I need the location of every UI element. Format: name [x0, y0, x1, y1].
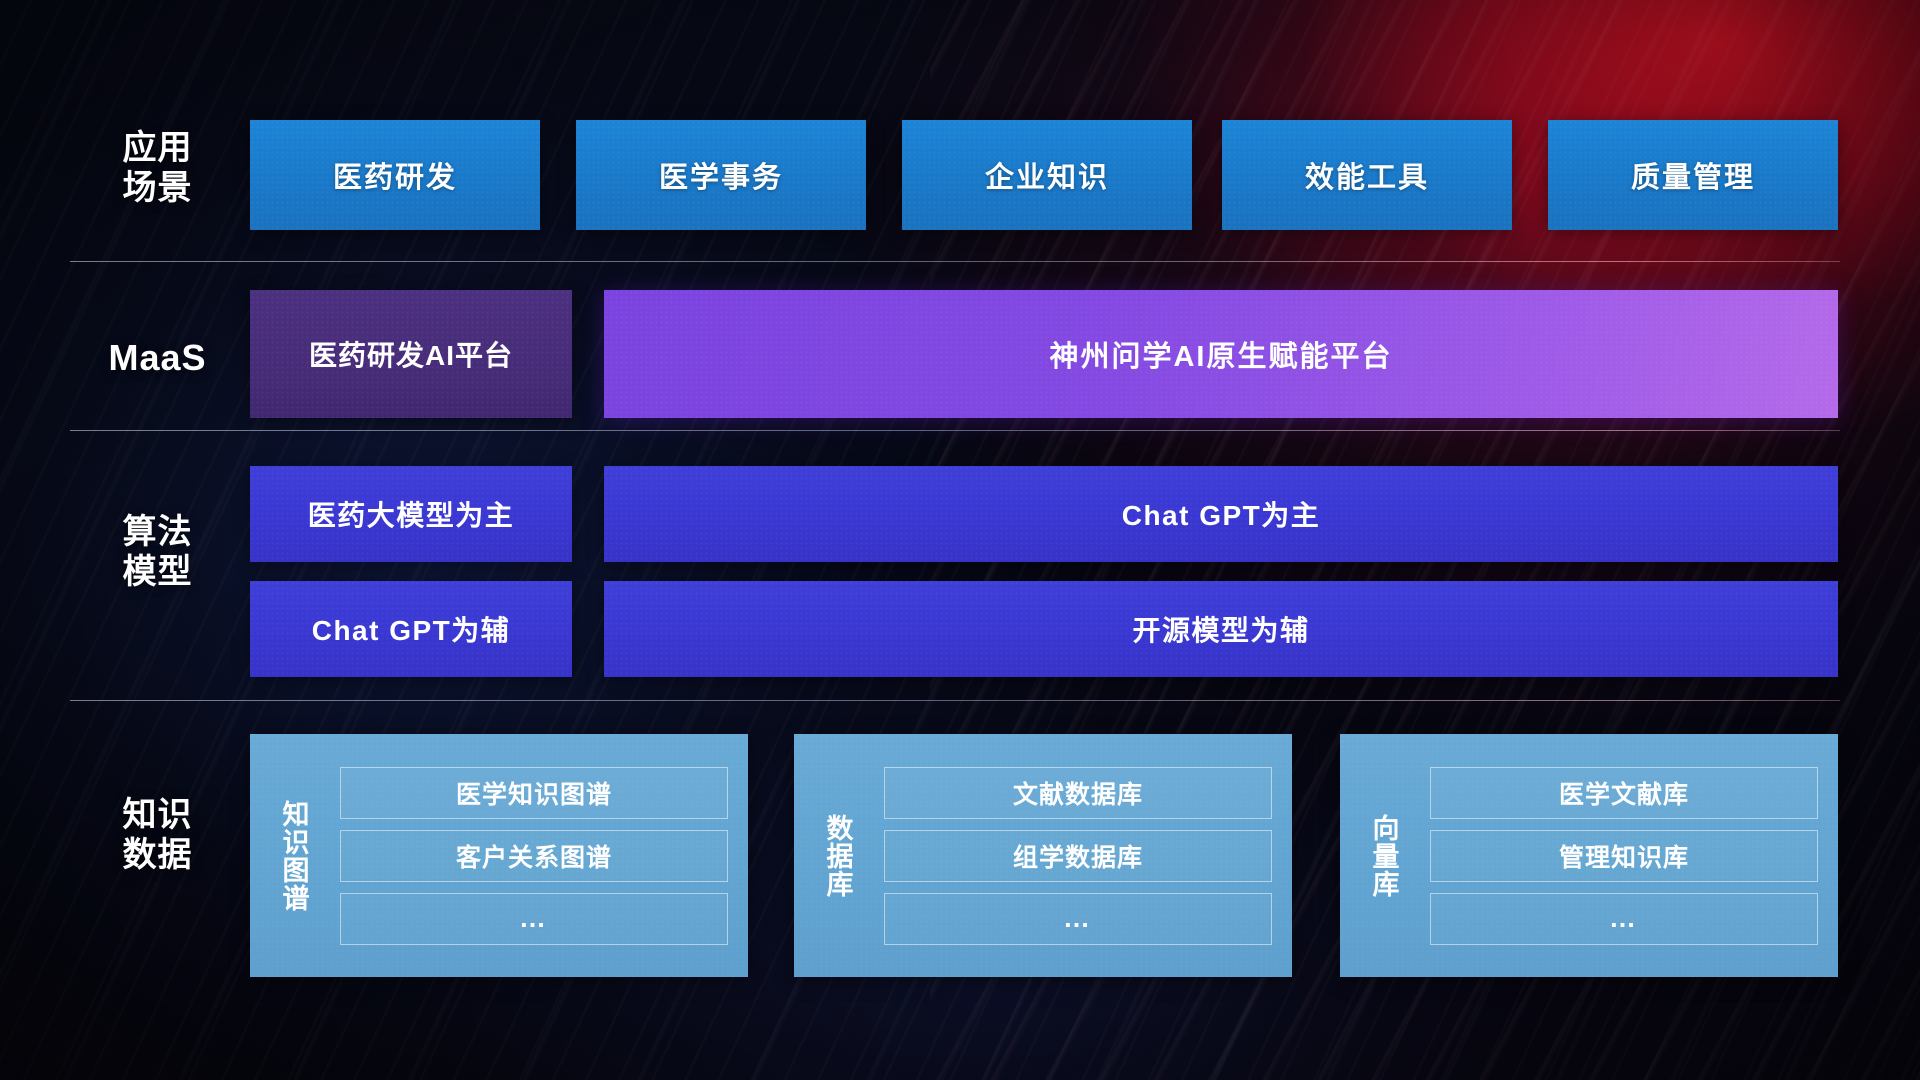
app-box-1[interactable]: 医药研发: [250, 120, 540, 230]
diagram-canvas: 应用 场景 医药研发 医学事务 企业知识 效能工具 质量管理 MaaS 医药研发…: [0, 0, 1920, 1080]
alg-box-row1-right[interactable]: Chat GPT为主: [604, 466, 1838, 562]
tier-label-application-scenarios: 应用 场景: [70, 128, 245, 208]
app-box-2[interactable]: 医学事务: [576, 120, 866, 230]
knowledge-panel-vector-label: 向量库: [1340, 734, 1426, 977]
alg-box-row1-left[interactable]: 医药大模型为主: [250, 466, 572, 562]
knowledge-panel-vector[interactable]: 向量库 医学文献库 管理知识库 …: [1340, 734, 1838, 977]
divider-2: [70, 430, 1840, 431]
tier-label-maas: MaaS: [70, 337, 245, 379]
maas-box-medical-ai-platform[interactable]: 医药研发AI平台: [250, 290, 572, 418]
knowledge-panel-graph-items: 医学知识图谱 客户关系图谱 …: [336, 767, 748, 945]
knowledge-item-graph-3[interactable]: …: [340, 893, 728, 945]
knowledge-item-database-2[interactable]: 组学数据库: [884, 830, 1272, 882]
knowledge-item-database-3[interactable]: …: [884, 893, 1272, 945]
tier-label-line-1: 知识: [70, 795, 245, 835]
knowledge-panel-vector-items: 医学文献库 管理知识库 …: [1426, 767, 1838, 945]
divider-1: [70, 261, 1840, 262]
app-box-3[interactable]: 企业知识: [902, 120, 1192, 230]
tier-label-line-2: 场景: [70, 168, 245, 208]
maas-box-shenzhou-platform[interactable]: 神州问学AI原生赋能平台: [604, 290, 1838, 418]
tier-label-line-2: 模型: [70, 552, 245, 592]
knowledge-panel-database[interactable]: 数据库 文献数据库 组学数据库 …: [794, 734, 1292, 977]
knowledge-item-graph-2[interactable]: 客户关系图谱: [340, 830, 728, 882]
knowledge-item-database-1[interactable]: 文献数据库: [884, 767, 1272, 819]
knowledge-item-graph-1[interactable]: 医学知识图谱: [340, 767, 728, 819]
knowledge-panel-graph-label: 知识图谱: [250, 734, 336, 977]
knowledge-item-vector-3[interactable]: …: [1430, 893, 1818, 945]
knowledge-panel-database-items: 文献数据库 组学数据库 …: [880, 767, 1292, 945]
tier-label-line-1: 应用: [70, 128, 245, 168]
divider-3: [70, 700, 1840, 701]
alg-box-row2-left[interactable]: Chat GPT为辅: [250, 581, 572, 677]
tier-label-knowledge-data: 知识 数据: [70, 795, 245, 875]
knowledge-item-vector-2[interactable]: 管理知识库: [1430, 830, 1818, 882]
app-box-4[interactable]: 效能工具: [1222, 120, 1512, 230]
app-box-5[interactable]: 质量管理: [1548, 120, 1838, 230]
tier-label-algorithm-models: 算法 模型: [70, 512, 245, 592]
tier-label-line-2: 数据: [70, 835, 245, 875]
knowledge-panel-database-label: 数据库: [794, 734, 880, 977]
knowledge-item-vector-1[interactable]: 医学文献库: [1430, 767, 1818, 819]
tier-label-line-1: 算法: [70, 512, 245, 552]
alg-box-row2-right[interactable]: 开源模型为辅: [604, 581, 1838, 677]
knowledge-panel-graph[interactable]: 知识图谱 医学知识图谱 客户关系图谱 …: [250, 734, 748, 977]
